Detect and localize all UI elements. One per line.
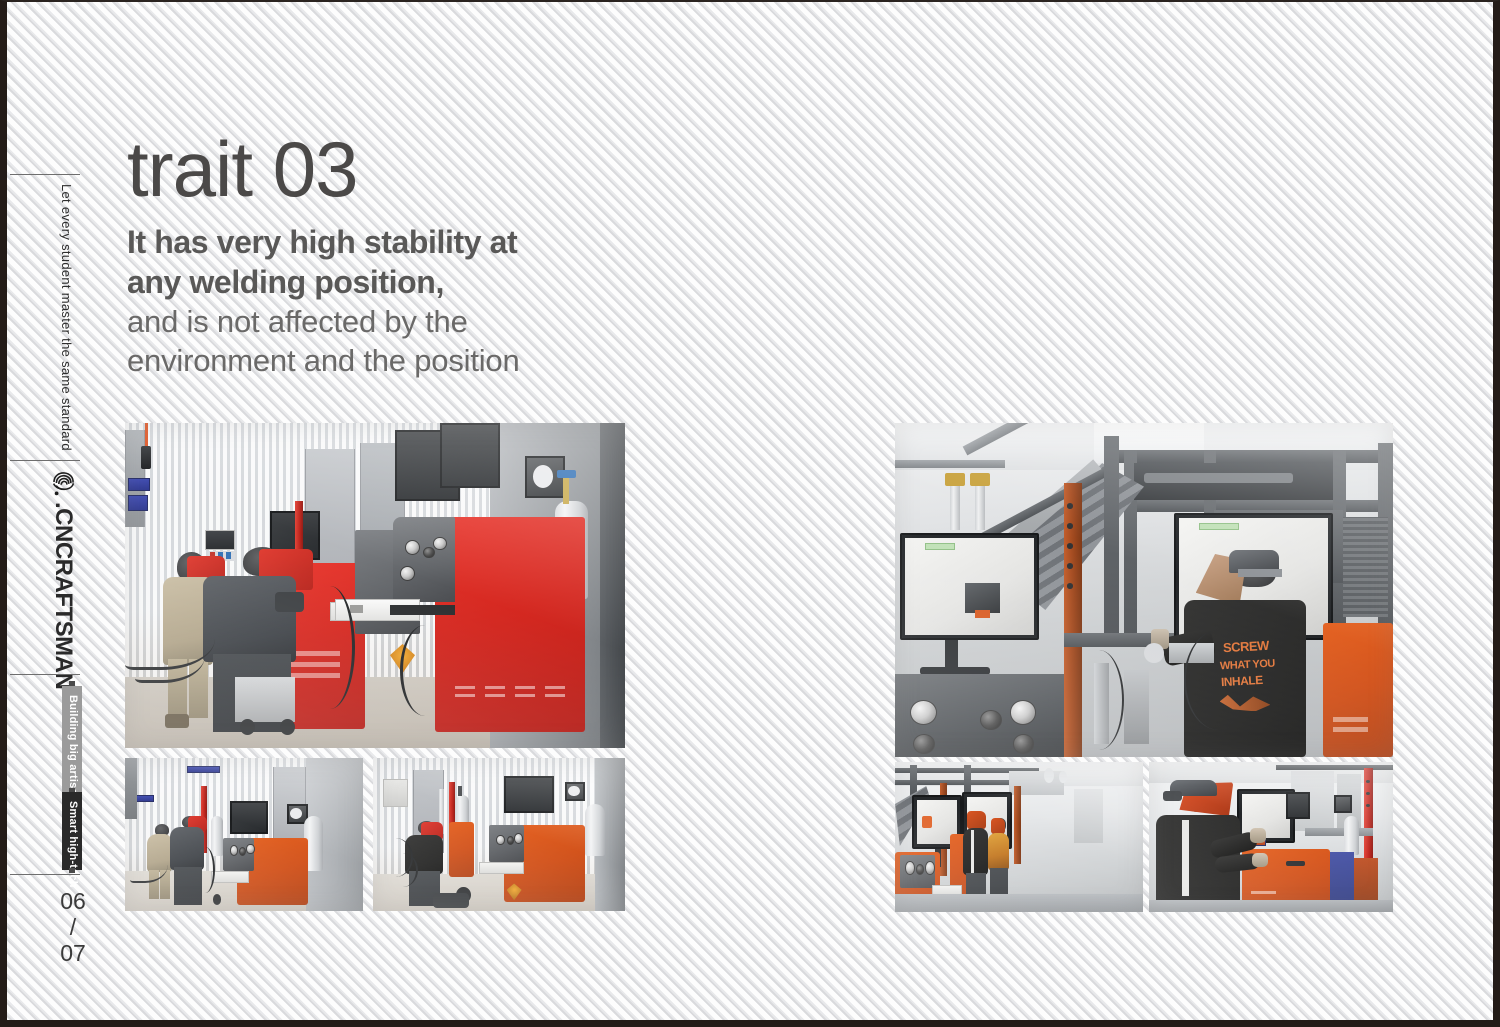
photo-trainee-closeup-simulator [1149,762,1393,912]
tag-notch-bottom [69,868,75,873]
spiral-swirl-logo-icon [49,468,79,498]
photo-welding-training-lab [125,423,625,748]
headline-block: trait 03 It has very high stability at a… [127,130,767,380]
sidebar-divider-pagenum [10,874,80,875]
subtitle-strong-line-2: any welding position, [127,262,767,302]
sidebar-divider-tags [10,674,80,675]
brand-name: .CNCRAFTSMAN [49,502,77,689]
brand-logo-wrap [45,468,89,498]
page-number-current: 06 [51,888,95,914]
page-number-slash: / [51,914,95,940]
subtitle-light-line-1: and is not affected by the [127,302,767,341]
photo-welding-booth-single-student [373,758,625,911]
tag-building-big-artisans: Building big artisans [62,686,82,792]
sidebar-divider-brand [10,460,80,461]
subtitle-strong: It has very high stability at any weldin… [127,222,767,302]
tag-smart-high-tech: Smart high-tech [62,792,82,870]
subtitle-light-line-2: environment and the position [127,341,767,380]
page-title: trait 03 [127,130,767,208]
sidebar-divider-top [10,174,80,175]
sidebar-tagline: Let every student master the same standa… [59,184,74,451]
photo-workshop-trainees-group [895,762,1143,912]
brochure-page: Let every student master the same standa… [0,0,1500,1027]
left-sidebar: Let every student master the same standa… [7,2,107,1027]
subtitle-strong-line-1: It has very high stability at [127,222,767,262]
photo-workshop-welder-main: SCREW WHAT YOU INHALE [895,423,1393,757]
photo-welding-booth-two-students [125,758,363,911]
page-number-total: 07 [51,940,95,966]
page-number: 06 / 07 [51,888,95,966]
subtitle-light: and is not affected by the environment a… [127,302,767,380]
